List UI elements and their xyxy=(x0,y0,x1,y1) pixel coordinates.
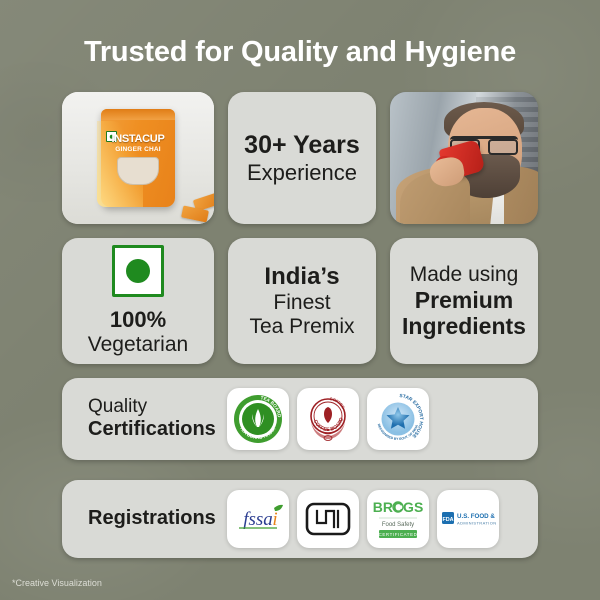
certifications-label-line1: Quality xyxy=(88,396,216,418)
fda-wordmark-icon: FDA U.S. FOOD & DRUG ADMINISTRATION xyxy=(440,505,496,533)
fssai-logo: fssa i xyxy=(227,490,289,548)
finest-tea-premix-card: India’s Finest Tea Premix xyxy=(228,238,376,364)
pouch-cup-graphic xyxy=(117,157,159,185)
finest-subline-1: Finest xyxy=(273,291,330,315)
svg-text:fssa: fssa xyxy=(243,509,273,530)
finest-subline-2: Tea Premix xyxy=(249,315,354,339)
tea-board-india-seal-icon: TEA BOARD TEA BOARD . INDIA xyxy=(232,393,284,445)
footnote-text: *Creative Visualization xyxy=(12,578,102,588)
registration-logo-row: fssa i BRCGS Food Safety xyxy=(227,490,499,548)
premium-ingredients-card: Made using Premium Ingredients xyxy=(390,238,538,364)
product-pouch: INSTACUP GINGER CHAI xyxy=(101,109,175,207)
coffee-board-seal-icon: COFFEE COFFEE BOARD xyxy=(302,393,354,445)
brcgs-wordmark-icon: BRCGS Food Safety CERTIFICATED xyxy=(371,495,425,543)
lifestyle-photo-card xyxy=(390,92,538,224)
svg-text:i: i xyxy=(272,509,277,530)
certifications-label: Quality Certifications xyxy=(88,396,216,442)
registrations-label-text: Registrations xyxy=(88,507,216,531)
vegetarian-percent: 100% xyxy=(110,307,166,332)
us-fda-logo: FDA U.S. FOOD & DRUG ADMINISTRATION xyxy=(437,490,499,548)
years-headline: 30+ Years xyxy=(244,131,360,160)
man-drinking-tea-photo xyxy=(390,92,538,224)
registrations-bar: Registrations fssa i BRCGS xyxy=(62,480,538,558)
years-experience-card: 30+ Years Experience xyxy=(228,92,376,224)
svg-text:FDA: FDA xyxy=(442,517,453,523)
premium-headline-2: Ingredients xyxy=(402,313,526,339)
star-export-house-seal-icon: STAR EXPORT HOUSE RECOGNISED BY GOVT. OF… xyxy=(372,393,424,445)
premium-headline-1: Premium xyxy=(415,287,513,313)
registrations-label: Registrations xyxy=(88,507,216,531)
svg-text:U.S. FOOD & DRUG: U.S. FOOD & DRUG xyxy=(457,513,496,520)
quality-certifications-bar: Quality Certifications TEA BOARD xyxy=(62,378,538,460)
svg-text:CERTIFICATED: CERTIFICATED xyxy=(379,532,418,537)
coffee-board-logo: COFFEE COFFEE BOARD xyxy=(297,388,359,450)
isi-mark-icon xyxy=(305,502,351,536)
fssai-wordmark-icon: fssa i xyxy=(230,499,286,539)
svg-text:Food Safety: Food Safety xyxy=(382,522,414,528)
veg-dot xyxy=(126,259,150,283)
product-image-card: INSTACUP GINGER CHAI xyxy=(62,92,214,224)
page-title: Trusted for Quality and Hygiene xyxy=(0,36,600,69)
tea-board-india-logo: TEA BOARD TEA BOARD . INDIA xyxy=(227,388,289,450)
pouch-variant-label: GINGER CHAI xyxy=(101,146,175,153)
product-photo-scene: INSTACUP GINGER CHAI xyxy=(62,92,214,224)
isi-mark-logo xyxy=(297,490,359,548)
vegetarian-label: Vegetarian xyxy=(88,333,188,357)
years-subline: Experience xyxy=(247,160,357,185)
brcgs-food-safety-logo: BRCGS Food Safety CERTIFICATED xyxy=(367,490,429,548)
certifications-label-line2: Certifications xyxy=(88,418,216,442)
pouch-brand-label: INSTACUP xyxy=(101,133,175,145)
premium-subline: Made using xyxy=(410,263,519,287)
svg-text:ADMINISTRATION: ADMINISTRATION xyxy=(457,521,496,526)
certification-logo-row: TEA BOARD TEA BOARD . INDIA xyxy=(227,388,429,450)
vegetarian-card: 100% Vegetarian xyxy=(62,238,214,364)
poster-root: Trusted for Quality and Hygiene INSTACUP… xyxy=(0,0,600,600)
veg-symbol-icon xyxy=(112,245,164,297)
star-export-house-logo: STAR EXPORT HOUSE RECOGNISED BY GOVT. OF… xyxy=(367,388,429,450)
finest-headline: India’s xyxy=(264,263,339,290)
